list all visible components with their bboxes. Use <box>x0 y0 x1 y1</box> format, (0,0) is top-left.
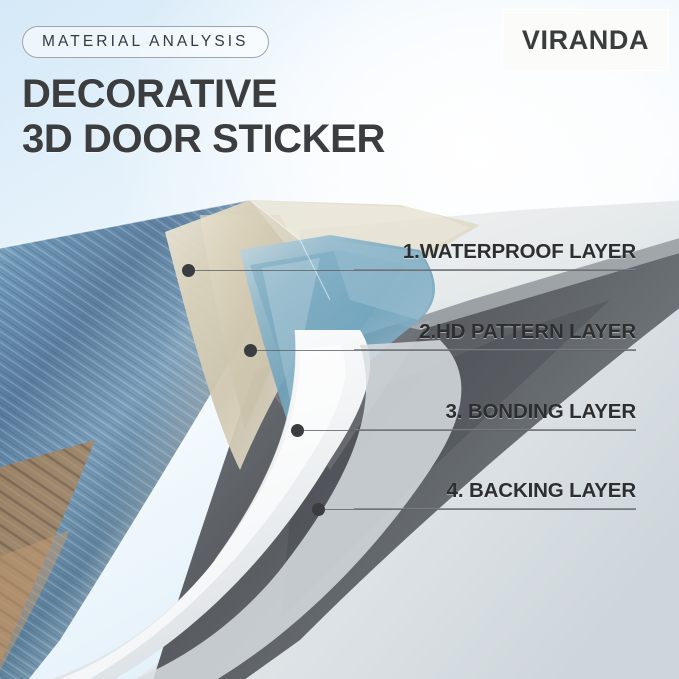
brand-name: VIRANDA <box>522 25 649 56</box>
page-title-line-2: 3D DOOR STICKER <box>22 119 385 159</box>
material-analysis-badge: MATERIAL ANALYSIS <box>22 26 269 58</box>
brand-logo-box: VIRANDA <box>503 10 668 70</box>
badge-label: MATERIAL ANALYSIS <box>42 33 249 51</box>
infographic-canvas: MATERIAL ANALYSIS DECORATIVE 3D DOOR STI… <box>0 0 679 679</box>
page-title-line-1: DECORATIVE <box>22 74 277 114</box>
